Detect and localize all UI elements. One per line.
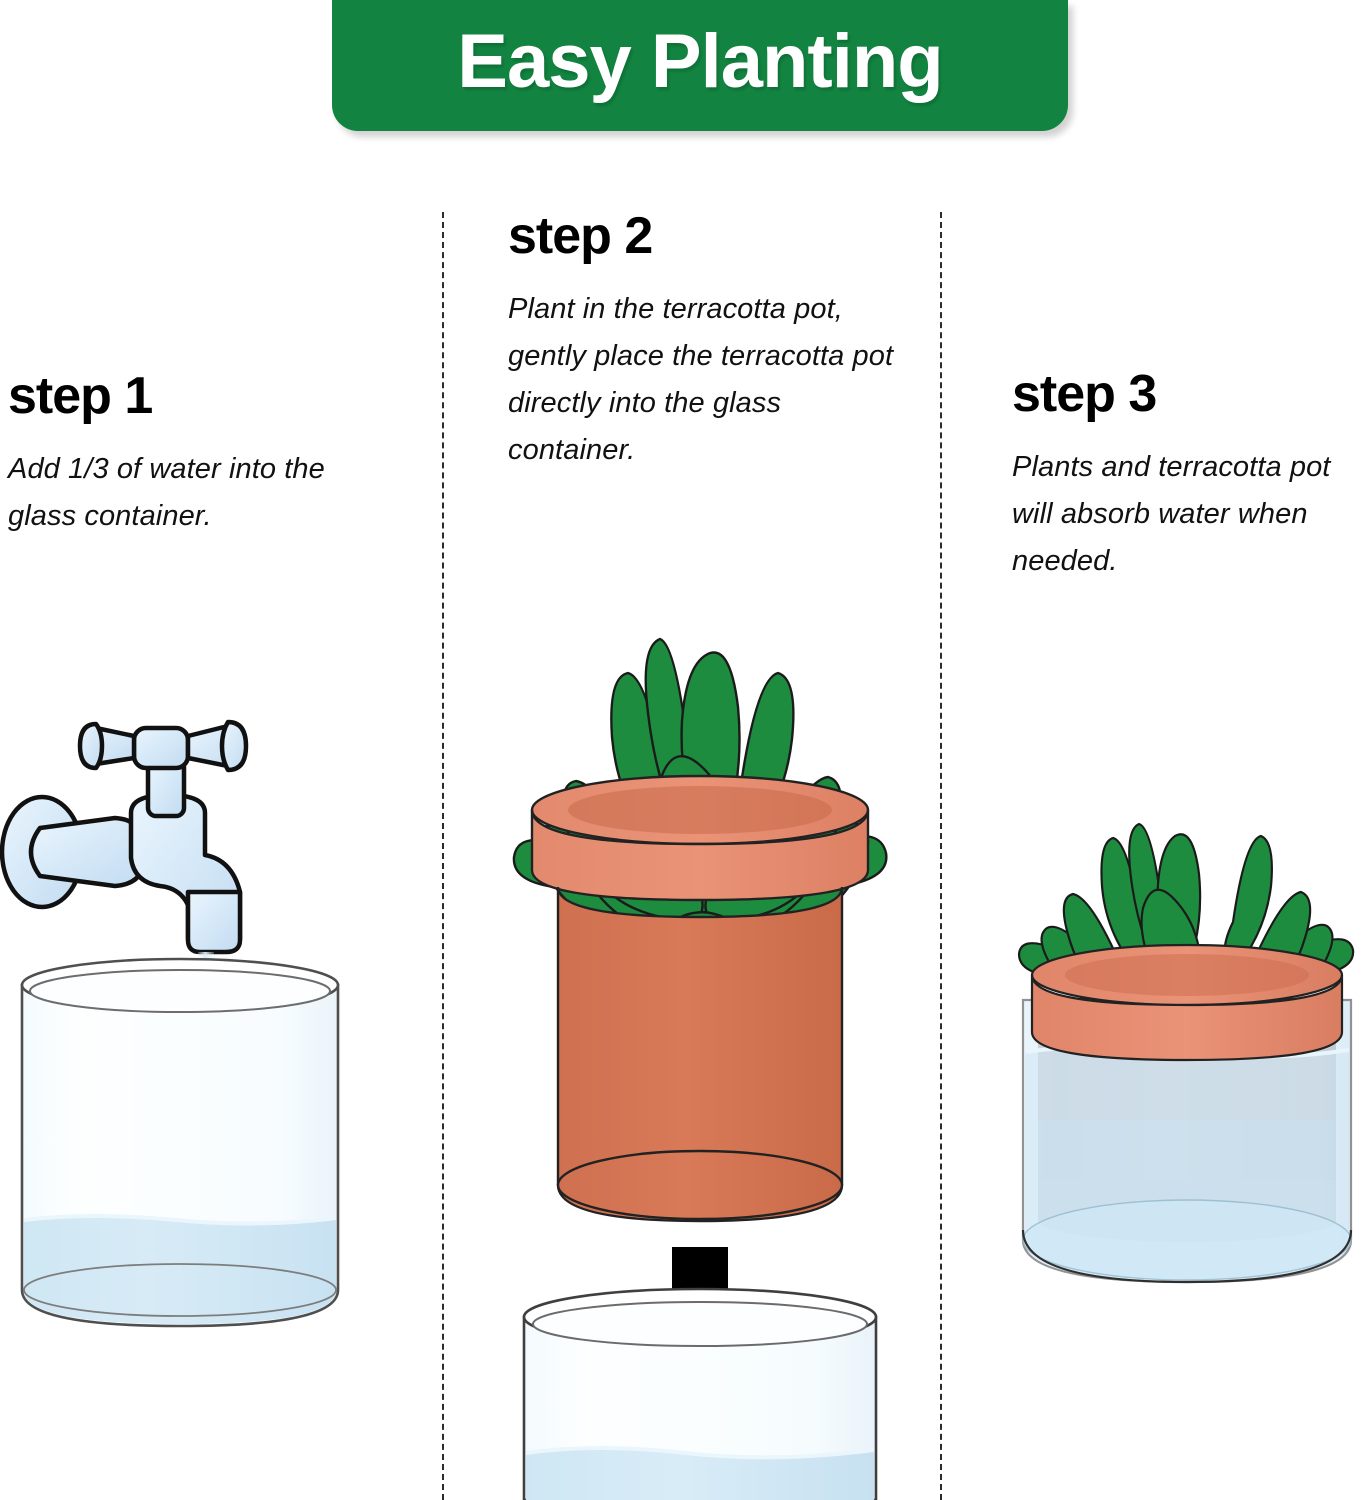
step-2-title: step 2	[508, 210, 898, 262]
terracotta-pot-rim	[1032, 945, 1342, 1060]
faucet-icon	[2, 722, 246, 952]
column-divider-right	[940, 212, 942, 1500]
step-2-body: Plant in the terracotta pot, gently plac…	[508, 286, 898, 474]
step-3-block: step 3 Plants and terracotta pot will ab…	[1012, 368, 1370, 585]
step-3-title: step 3	[1012, 368, 1370, 420]
step-2-block: step 2 Plant in the terracotta pot, gent…	[508, 210, 898, 474]
header-banner: Easy Planting	[332, 0, 1068, 131]
step-3-illustration	[1005, 820, 1370, 1320]
step-1-title: step 1	[8, 370, 378, 422]
column-divider-left	[442, 212, 444, 1500]
terracotta-pot	[532, 776, 868, 1221]
poster-root: Easy Planting step 1 Add 1/3 of water in…	[0, 0, 1370, 1500]
step-3-body: Plants and terracotta pot will absorb wa…	[1012, 444, 1370, 585]
glass-container	[22, 959, 338, 1326]
glass-container	[524, 1289, 876, 1500]
page-title: Easy Planting	[457, 24, 942, 108]
step-1-illustration	[0, 700, 370, 1350]
step-2-illustration	[500, 595, 900, 1500]
step-1-body: Add 1/3 of water into the glass containe…	[8, 446, 378, 540]
step-1-block: step 1 Add 1/3 of water into the glass c…	[8, 370, 378, 540]
